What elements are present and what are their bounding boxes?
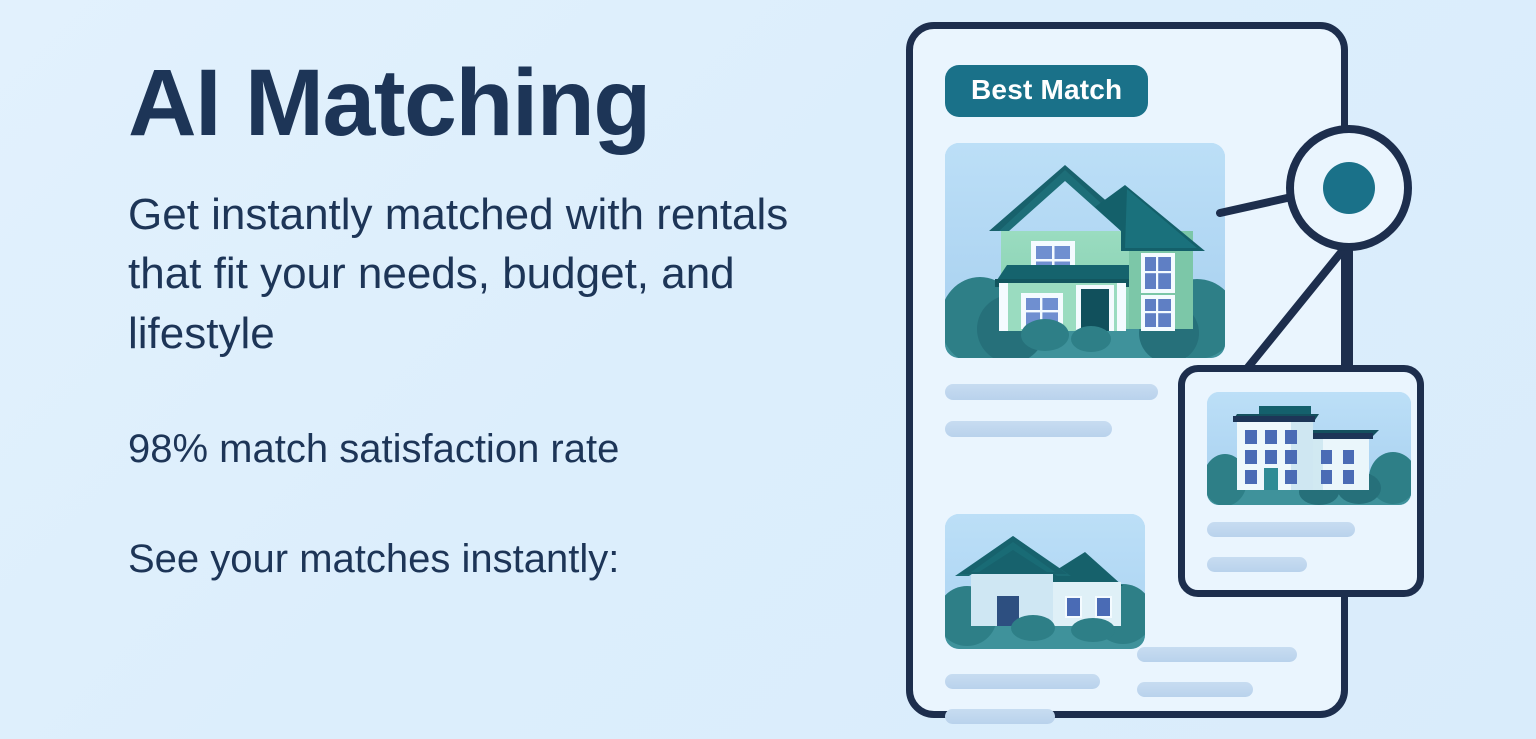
skeleton-line bbox=[1137, 647, 1297, 662]
ai-match-node[interactable] bbox=[1286, 125, 1412, 251]
skeleton-line bbox=[945, 421, 1112, 437]
skeleton-line bbox=[945, 709, 1055, 724]
apartment-building-icon bbox=[1207, 392, 1411, 505]
skeleton-line bbox=[1207, 522, 1355, 537]
hero-description: Get instantly matched with rentals that … bbox=[128, 185, 808, 363]
best-match-badge: Best Match bbox=[945, 65, 1148, 117]
cta-prompt: See your matches instantly: bbox=[128, 535, 828, 583]
skeleton-line bbox=[1207, 557, 1307, 572]
match-detail-card[interactable] bbox=[1178, 365, 1424, 597]
two-story-house-icon bbox=[945, 143, 1225, 358]
skeleton-line bbox=[945, 674, 1100, 689]
skeleton-line bbox=[945, 384, 1158, 400]
small-house-icon bbox=[945, 514, 1145, 649]
listing-illustration: Best Match bbox=[860, 0, 1536, 739]
skeleton-line bbox=[1137, 682, 1253, 697]
small-house-photo bbox=[945, 514, 1145, 649]
hero-text-column: AI Matching Get instantly matched with r… bbox=[128, 56, 828, 583]
ai-matching-banner: AI Matching Get instantly matched with r… bbox=[0, 0, 1536, 739]
match-node-dot-icon bbox=[1323, 162, 1375, 214]
apartment-building-photo bbox=[1207, 392, 1411, 505]
page-title: AI Matching bbox=[128, 56, 828, 151]
satisfaction-stat: 98% match satisfaction rate bbox=[128, 425, 828, 473]
two-story-house-photo bbox=[945, 143, 1225, 358]
